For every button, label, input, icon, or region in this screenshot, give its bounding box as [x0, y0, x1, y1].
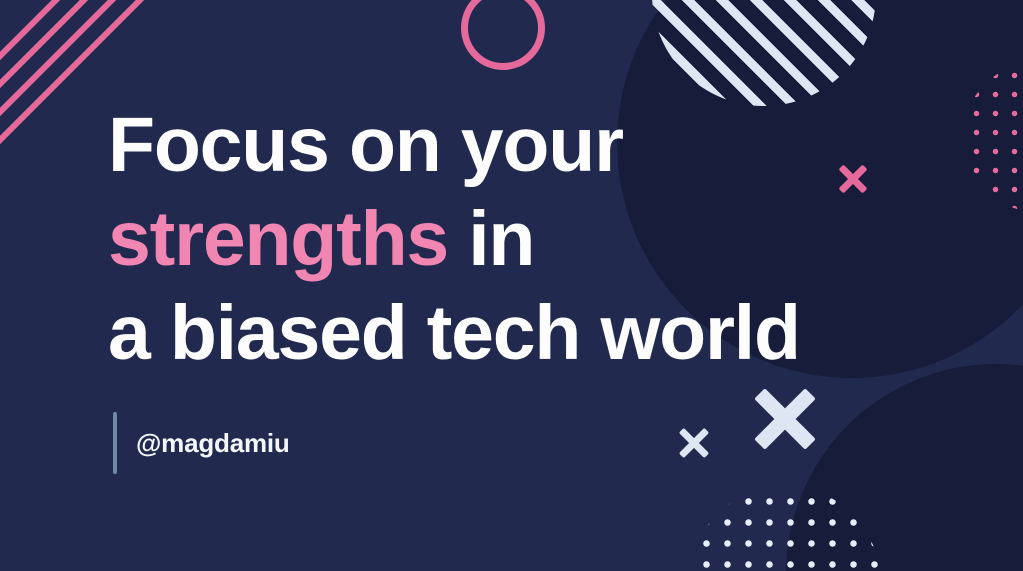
- author-handle-block: @magdamiu: [113, 412, 290, 474]
- small-white-x-icon: [694, 428, 730, 464]
- presentation-slide: Focus on your strengths in a biased tech…: [0, 0, 1023, 571]
- author-handle-text: @magdamiu: [136, 428, 290, 459]
- large-white-x-icon: [785, 390, 857, 462]
- title-line-3: a biased tech world: [108, 286, 948, 380]
- title-accent-word: strengths: [108, 196, 448, 282]
- slide-title: Focus on your strengths in a biased tech…: [108, 98, 948, 380]
- pink-circle-outline-icon: [461, 0, 545, 70]
- handle-accent-rule: [113, 412, 117, 474]
- title-line-1: Focus on your: [108, 98, 948, 192]
- title-line-2: strengths in: [108, 192, 948, 286]
- title-line-2-rest: in: [448, 196, 534, 282]
